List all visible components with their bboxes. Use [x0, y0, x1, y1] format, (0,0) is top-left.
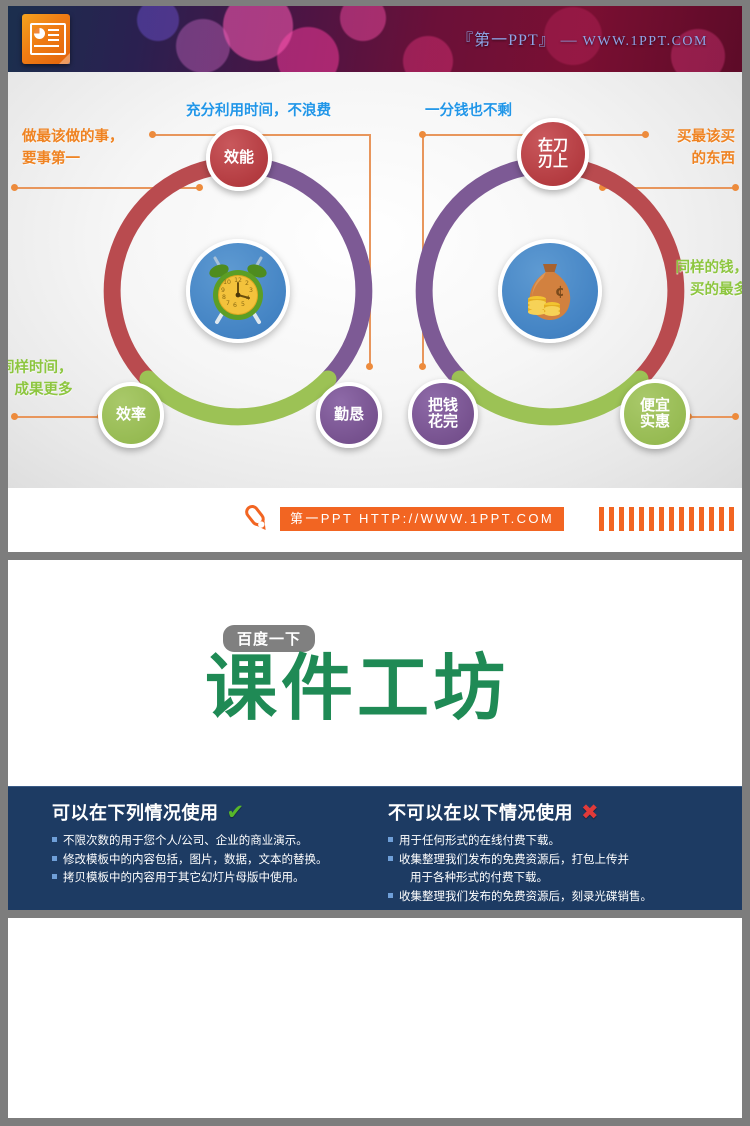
svg-text:6: 6 — [233, 302, 237, 309]
license-panel: 可以在下列情况使用 ✔ 不限次数的用于您个人/公司、企业的商业演示。 修改模板中… — [8, 786, 742, 910]
svg-text:7: 7 — [226, 300, 230, 307]
left-node-left[interactable]: 效率 — [98, 382, 164, 448]
left-label-upper: 做最该做的事， 要事第一 — [22, 126, 124, 171]
license-forbidden: 不可以在以下情况使用 ✖ 用于任何形式的在线付费下载。 收集整理我们发布的免费资… — [388, 799, 652, 907]
license-forbidden-title: 不可以在以下情况使用 ✖ — [388, 799, 652, 825]
right-node-right-label: 便宜 实惠 — [640, 398, 670, 430]
infographic-canvas: 1223 456 789 10 效能 效率 勤恳 充分利用时间，不浪费 做最该做… — [8, 72, 742, 488]
slide-header-band: 『第一PPT』 — WWW.1PPT.COM — [8, 6, 742, 72]
left-node-top[interactable]: 效能 — [206, 125, 272, 191]
footer-ticks — [599, 507, 734, 531]
footer-url-bar: 第一PPT HTTP://WWW.1PPT.COM — [280, 507, 564, 531]
right-node-top-label: 在刀 刃上 — [538, 138, 568, 170]
svg-text:¢: ¢ — [555, 284, 565, 300]
right-node-top[interactable]: 在刀 刃上 — [517, 118, 589, 190]
powerpoint-icon — [22, 14, 70, 64]
right-label-upper: 买最该买 的东西 — [645, 126, 735, 171]
slide-footer: 第一PPT HTTP://WWW.1PPT.COM — [8, 488, 742, 552]
license-forbidden-list: 用于任何形式的在线付费下载。 收集整理我们发布的免费资源后，打包上传并 用于各种… — [388, 832, 652, 907]
header-dash: — — [561, 32, 578, 49]
list-item: 用于任何形式的在线付费下载。 — [388, 832, 652, 851]
connector-dot — [11, 184, 18, 191]
pen-icon — [240, 502, 274, 536]
right-node-left[interactable]: 把钱 花完 — [408, 379, 478, 449]
connector-dot — [732, 413, 739, 420]
alarm-clock-icon: 1223 456 789 10 — [201, 254, 275, 328]
svg-text:10: 10 — [223, 279, 231, 286]
left-node-left-label: 效率 — [116, 407, 146, 423]
cross-icon: ✖ — [581, 802, 599, 823]
left-node-top-label: 效能 — [224, 150, 254, 166]
header-brand-url: WWW.1PPT.COM — [583, 34, 708, 49]
money-bag-icon: ¢ — [513, 254, 587, 328]
left-center-circle: 1223 456 789 10 — [186, 239, 290, 343]
header-brand-cn: 『第一PPT』 — [457, 32, 556, 49]
right-node-right[interactable]: 便宜 实惠 — [620, 379, 690, 449]
connector-dot — [732, 184, 739, 191]
list-item: 用于各种形式的付费下载。 — [388, 869, 652, 888]
connector-dot — [419, 131, 426, 138]
license-allowed-title: 可以在下列情况使用 ✔ — [52, 799, 328, 825]
connector-dot — [11, 413, 18, 420]
list-item: 收集整理我们发布的免费资源后，刻录光碟销售。 — [388, 888, 652, 907]
left-label-lower: 同样时间， 成果更多 — [8, 357, 73, 402]
list-item: 修改模板中的内容包括，图片，数据，文本的替换。 — [52, 851, 328, 870]
license-allowed-list: 不限次数的用于您个人/公司、企业的商业演示。 修改模板中的内容包括，图片，数据，… — [52, 832, 328, 888]
svg-text:2: 2 — [245, 280, 249, 287]
connector-left-low-h — [14, 416, 100, 418]
svg-text:5: 5 — [241, 301, 245, 308]
header-branding: 『第一PPT』 — WWW.1PPT.COM — [457, 26, 708, 50]
right-label-top: 一分钱也不剩 — [425, 100, 512, 122]
list-item: 拷贝模板中的内容用于其它幻灯片母版中使用。 — [52, 869, 328, 888]
check-icon: ✔ — [227, 802, 245, 823]
svg-text:9: 9 — [221, 287, 225, 294]
right-center-circle: ¢ — [498, 239, 602, 343]
left-node-right[interactable]: 勤恳 — [316, 382, 382, 448]
list-item: 不限次数的用于您个人/公司、企业的商业演示。 — [52, 832, 328, 851]
right-label-lower: 同样的钱， 买的最多 — [648, 257, 742, 302]
connector-right-low-h — [688, 416, 736, 418]
left-label-top: 充分利用时间，不浪费 — [186, 100, 331, 122]
list-item: 收集整理我们发布的免费资源后，打包上传并 — [388, 851, 652, 870]
svg-text:3: 3 — [249, 287, 253, 294]
slide-infographic: 『第一PPT』 — WWW.1PPT.COM — [8, 6, 742, 552]
slide-blank — [8, 918, 742, 1118]
brand-title: 课件工坊 — [205, 652, 509, 724]
left-node-right-label: 勤恳 — [334, 407, 364, 423]
right-node-left-label: 把钱 花完 — [428, 398, 458, 430]
slide-brand: 百度一下 课件工坊 可以在下列情况使用 ✔ 不限次数的用于您个人/公司、企业的商… — [8, 560, 742, 910]
license-allowed: 可以在下列情况使用 ✔ 不限次数的用于您个人/公司、企业的商业演示。 修改模板中… — [52, 799, 328, 888]
connector-dot — [149, 131, 156, 138]
svg-text:8: 8 — [222, 294, 226, 301]
